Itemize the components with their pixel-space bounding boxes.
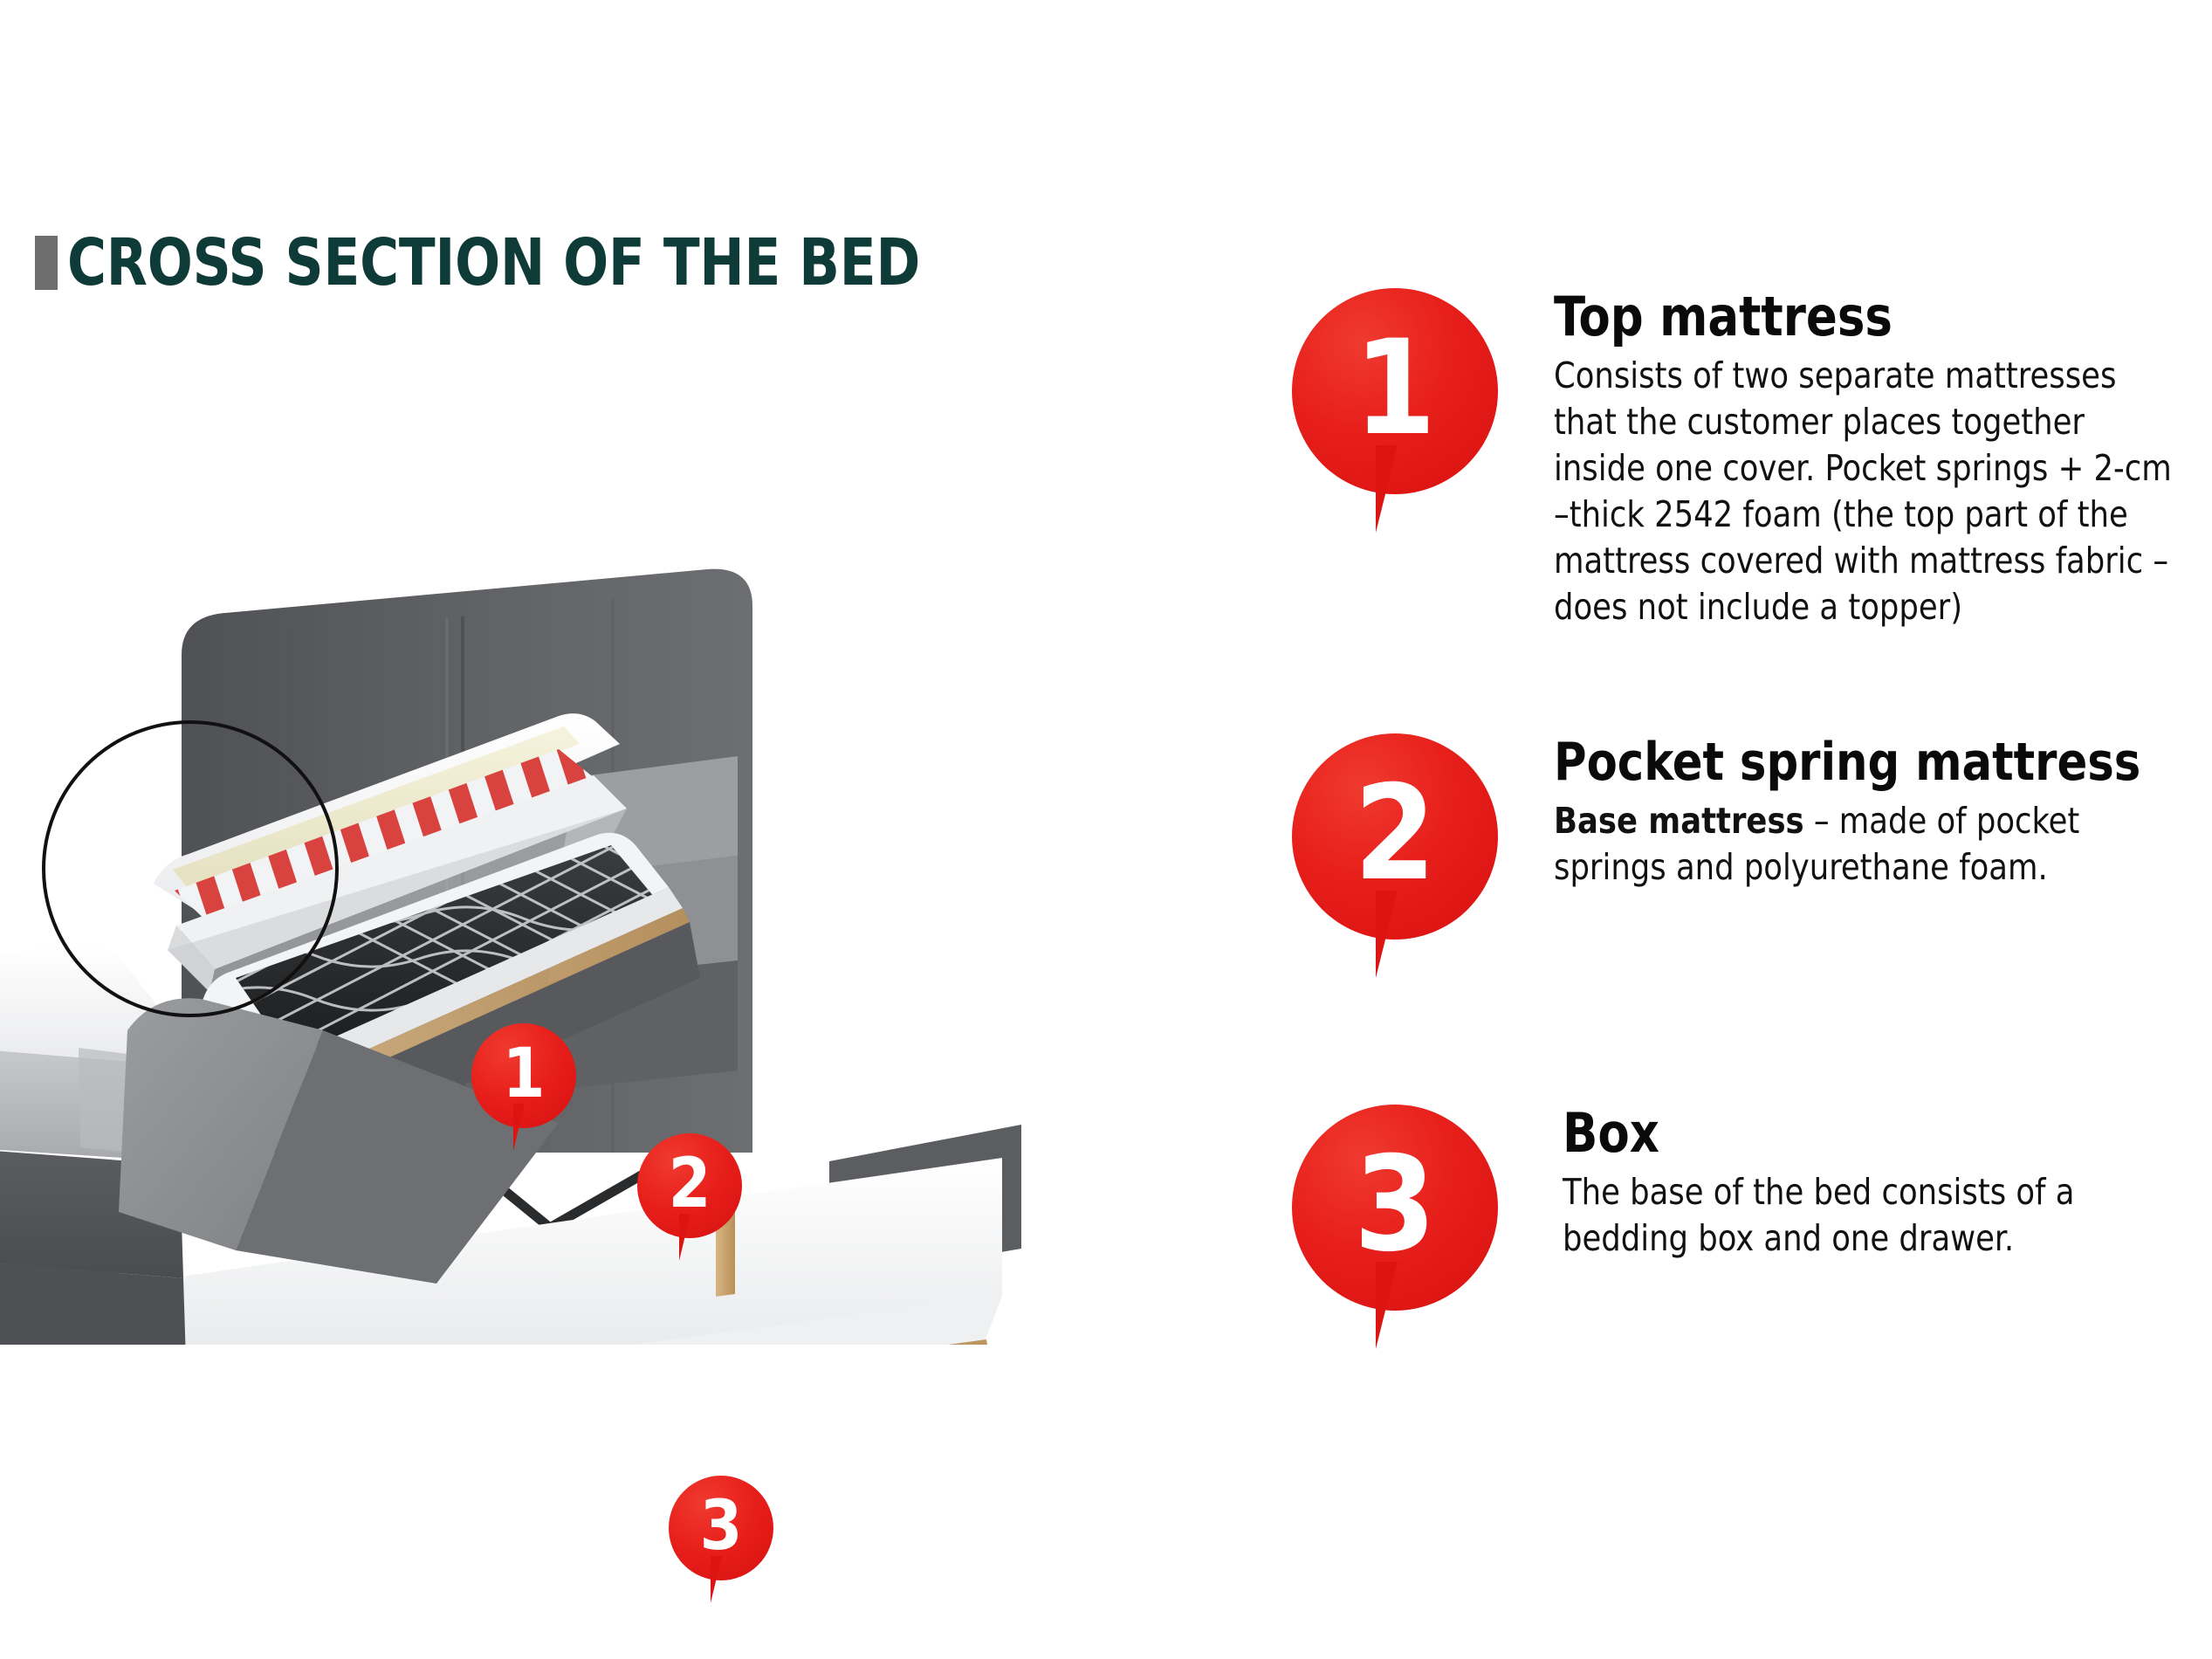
bed-cross-section-illustration: 1 2 3 <box>0 367 1274 1345</box>
legend-body-2: Pocket spring mattress Base mattress – m… <box>1554 733 2212 891</box>
legend-marker-2[interactable]: 2 <box>1292 733 1498 978</box>
infographic-page: CROSS SECTION OF THE BED <box>0 0 2212 1659</box>
marker-number: 2 <box>637 1133 742 1238</box>
legend-description-1: Consists of two separate mattresses that… <box>1554 353 2186 630</box>
legend-heading-2: Pocket spring mattress <box>1554 733 2179 791</box>
marker-number: 1 <box>471 1023 576 1128</box>
legend-heading-1: Top mattress <box>1554 288 2179 346</box>
legend-description-2: Base mattress – made of pocket springs a… <box>1554 798 2186 891</box>
legend-body-1: Top mattress Consists of two separate ma… <box>1554 288 2212 630</box>
marker-number: 1 <box>1292 288 1498 494</box>
legend-marker-3[interactable]: 3 <box>1292 1105 1498 1349</box>
page-title: CROSS SECTION OF THE BED <box>35 229 994 297</box>
illustration-callout-1[interactable]: 1 <box>471 1023 576 1153</box>
illustration-callout-3[interactable]: 3 <box>669 1476 773 1605</box>
title-accent-bar <box>35 236 58 290</box>
legend-body-3: Box The base of the bed consists of a be… <box>1563 1105 2212 1262</box>
marker-number: 3 <box>669 1476 773 1580</box>
page-title-text: CROSS SECTION OF THE BED <box>67 231 920 295</box>
marker-number: 3 <box>1292 1105 1498 1311</box>
legend-description-2-bold: Base mattress <box>1554 800 1804 842</box>
marker-number: 2 <box>1292 733 1498 940</box>
legend-heading-3: Box <box>1563 1105 2188 1162</box>
illustration-callout-2[interactable]: 2 <box>637 1133 742 1263</box>
legend-marker-1[interactable]: 1 <box>1292 288 1498 533</box>
legend-column: 1 Top mattress Consists of two separate … <box>1283 0 2212 1659</box>
legend-description-3: The base of the bed consists of a beddin… <box>1563 1169 2195 1262</box>
